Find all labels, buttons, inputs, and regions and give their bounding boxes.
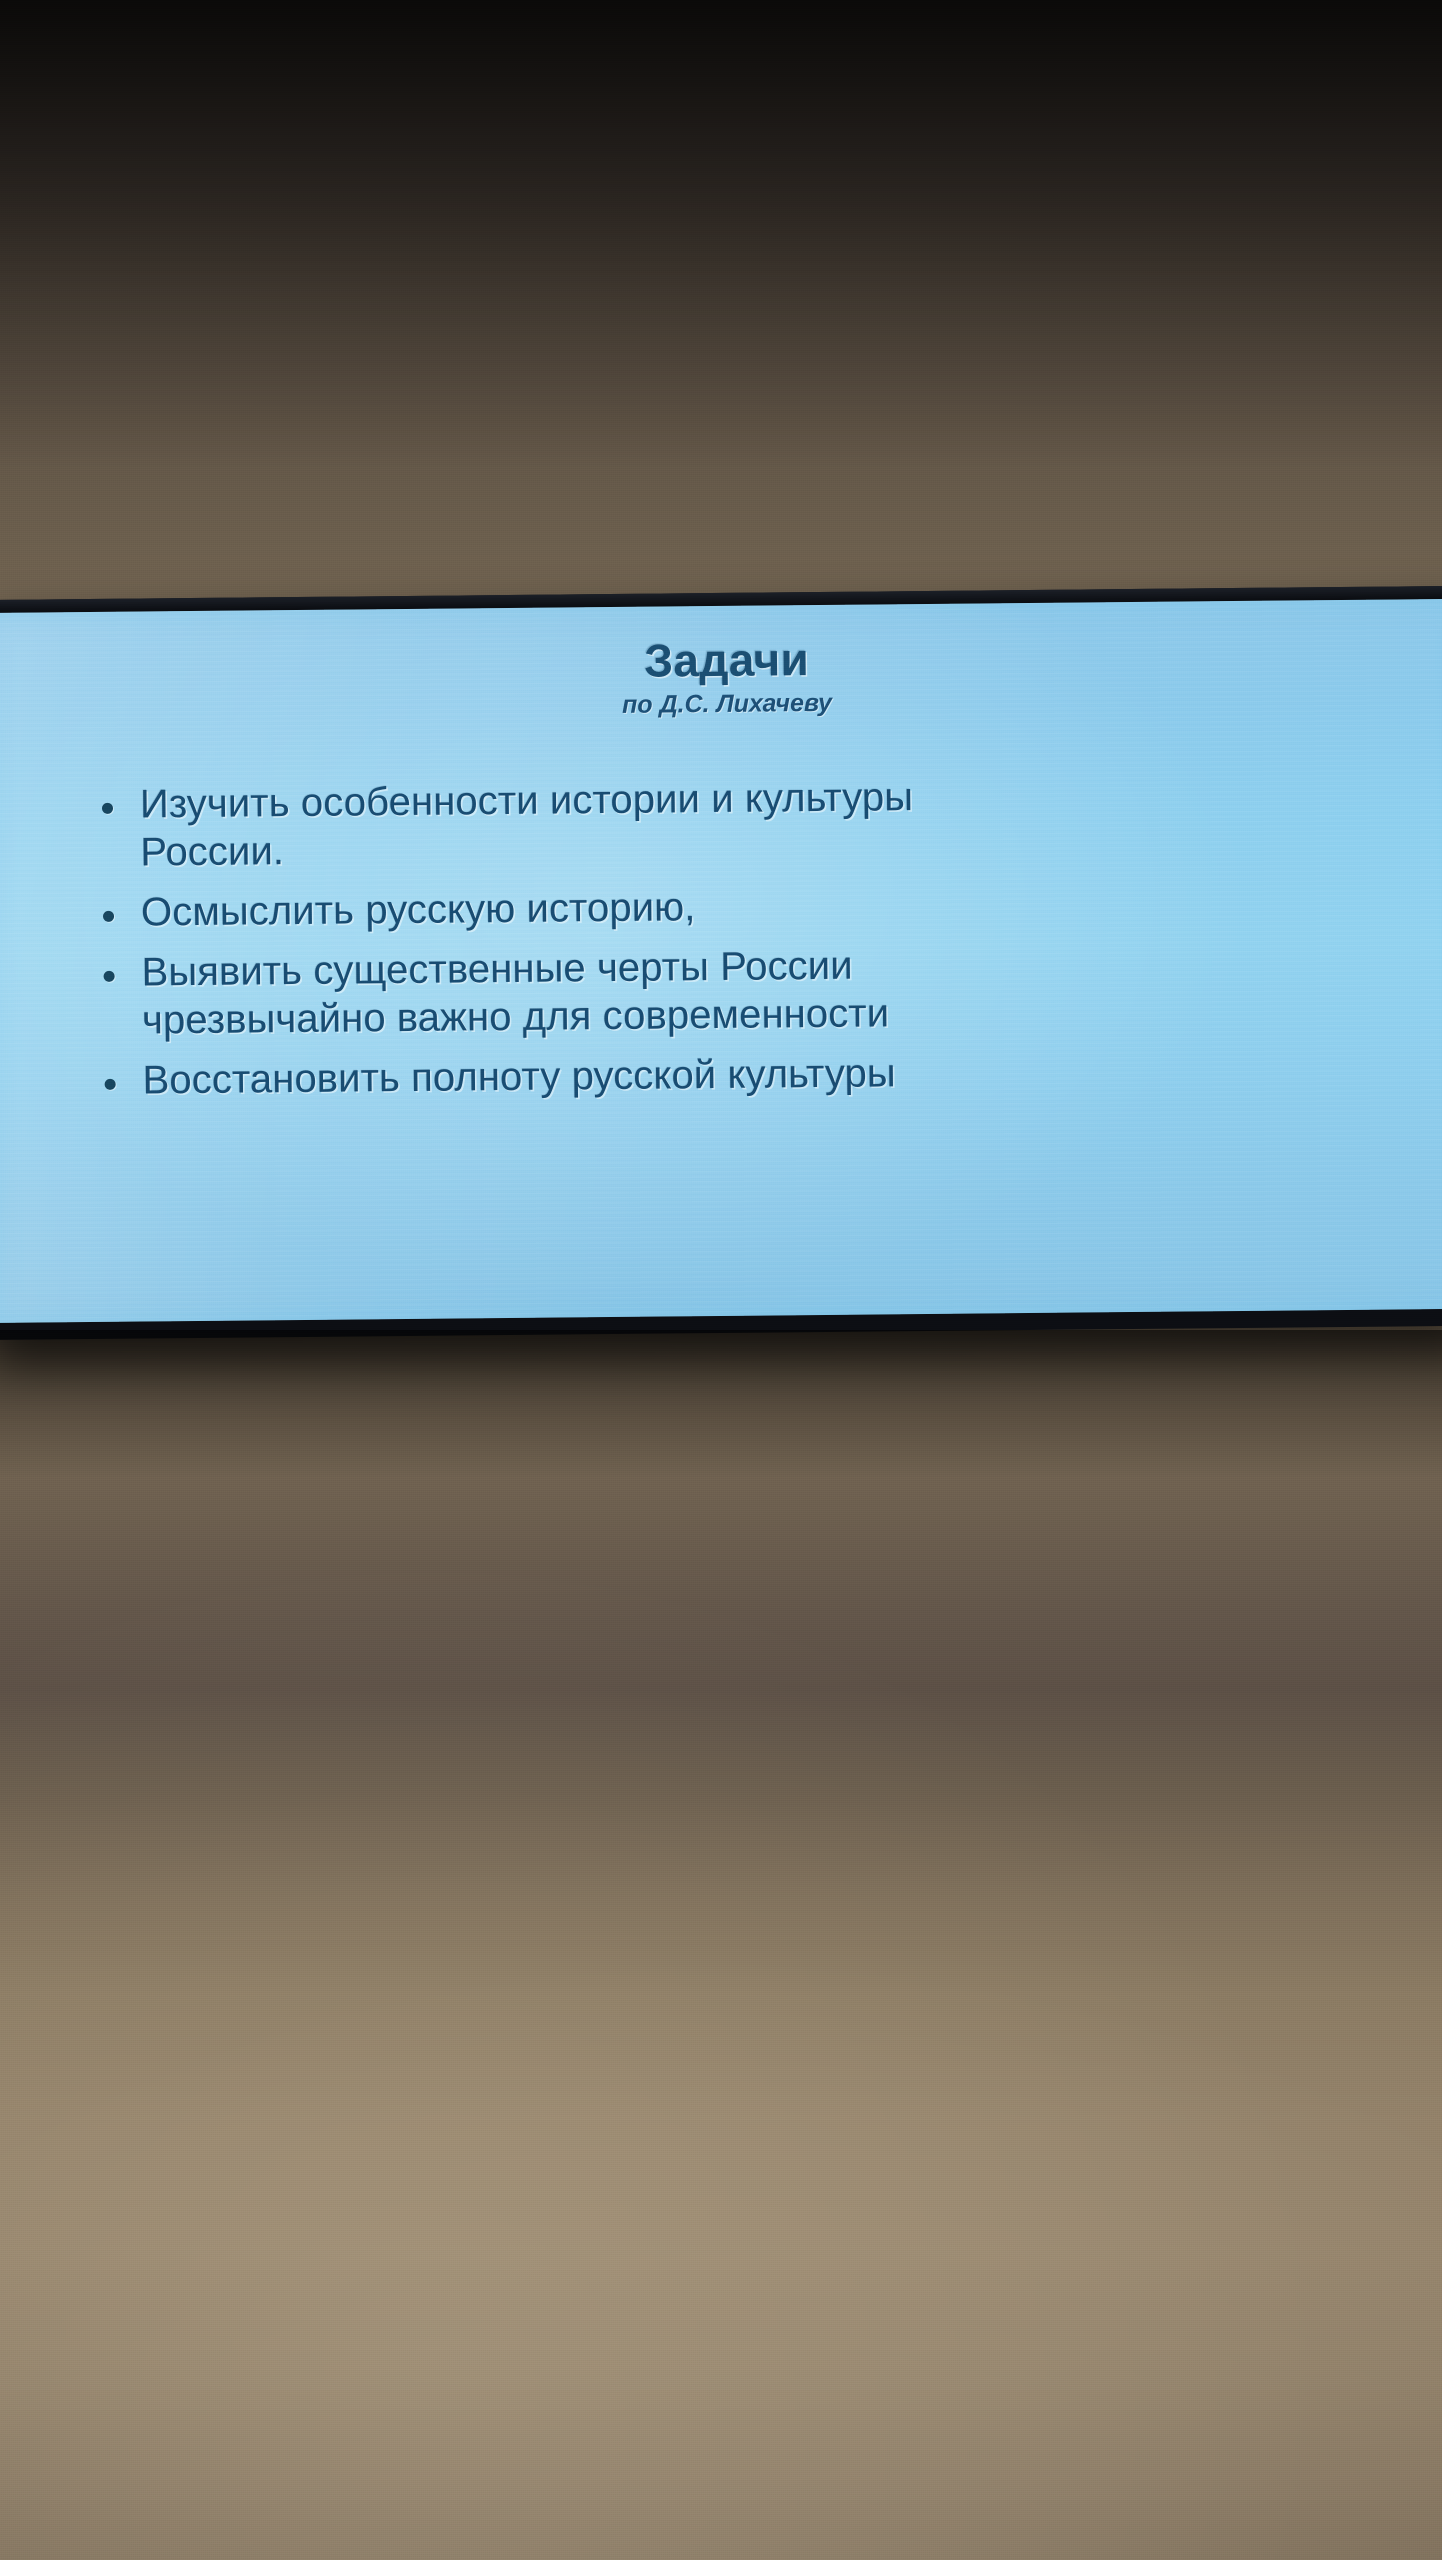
display-screen: Задачи по Д.С. Лихачеву Изучить особенно… — [0, 599, 1442, 1323]
bullet-dot-icon — [103, 911, 114, 922]
bullet-line-1: Изучить особенности истории и культуры — [140, 775, 914, 826]
bullet-dot-icon — [104, 971, 115, 982]
bullet-line-1: Осмыслить русскую историю, — [141, 886, 696, 935]
bullet-line-1: Восстановить полноту русской культуры — [142, 1052, 895, 1103]
display-drop-shadow — [0, 1330, 1442, 1480]
room-photo: Задачи по Д.С. Лихачеву Изучить особенно… — [0, 0, 1442, 2560]
wall-shadow-upper — [0, 0, 1442, 470]
slide-title: Задачи — [34, 629, 1418, 691]
bullet-dot-icon — [102, 803, 113, 814]
bullet-line-2: России. — [140, 817, 1380, 877]
slide-bullet-list: Изучить особенности истории и культуры Р… — [36, 769, 1423, 1106]
list-item: Осмыслить русскую историю, — [81, 877, 1381, 937]
list-item: Восстановить полноту русской культуры — [82, 1045, 1382, 1105]
list-item: Выявить существенные черты России чрезвы… — [81, 937, 1382, 1045]
bullet-dot-icon — [105, 1079, 116, 1090]
list-item: Изучить особенности истории и культуры Р… — [80, 769, 1381, 877]
slide-subtitle: по Д.С. Лихачеву — [35, 684, 1419, 726]
presentation-slide: Задачи по Д.С. Лихачеву Изучить особенно… — [0, 599, 1442, 1106]
bullet-line-2: чрезвычайно важно для современности — [142, 985, 1382, 1045]
wall-mounted-display: Задачи по Д.С. Лихачеву Изучить особенно… — [0, 586, 1442, 1340]
bullet-line-1: Выявить существенные черты России — [141, 944, 853, 995]
